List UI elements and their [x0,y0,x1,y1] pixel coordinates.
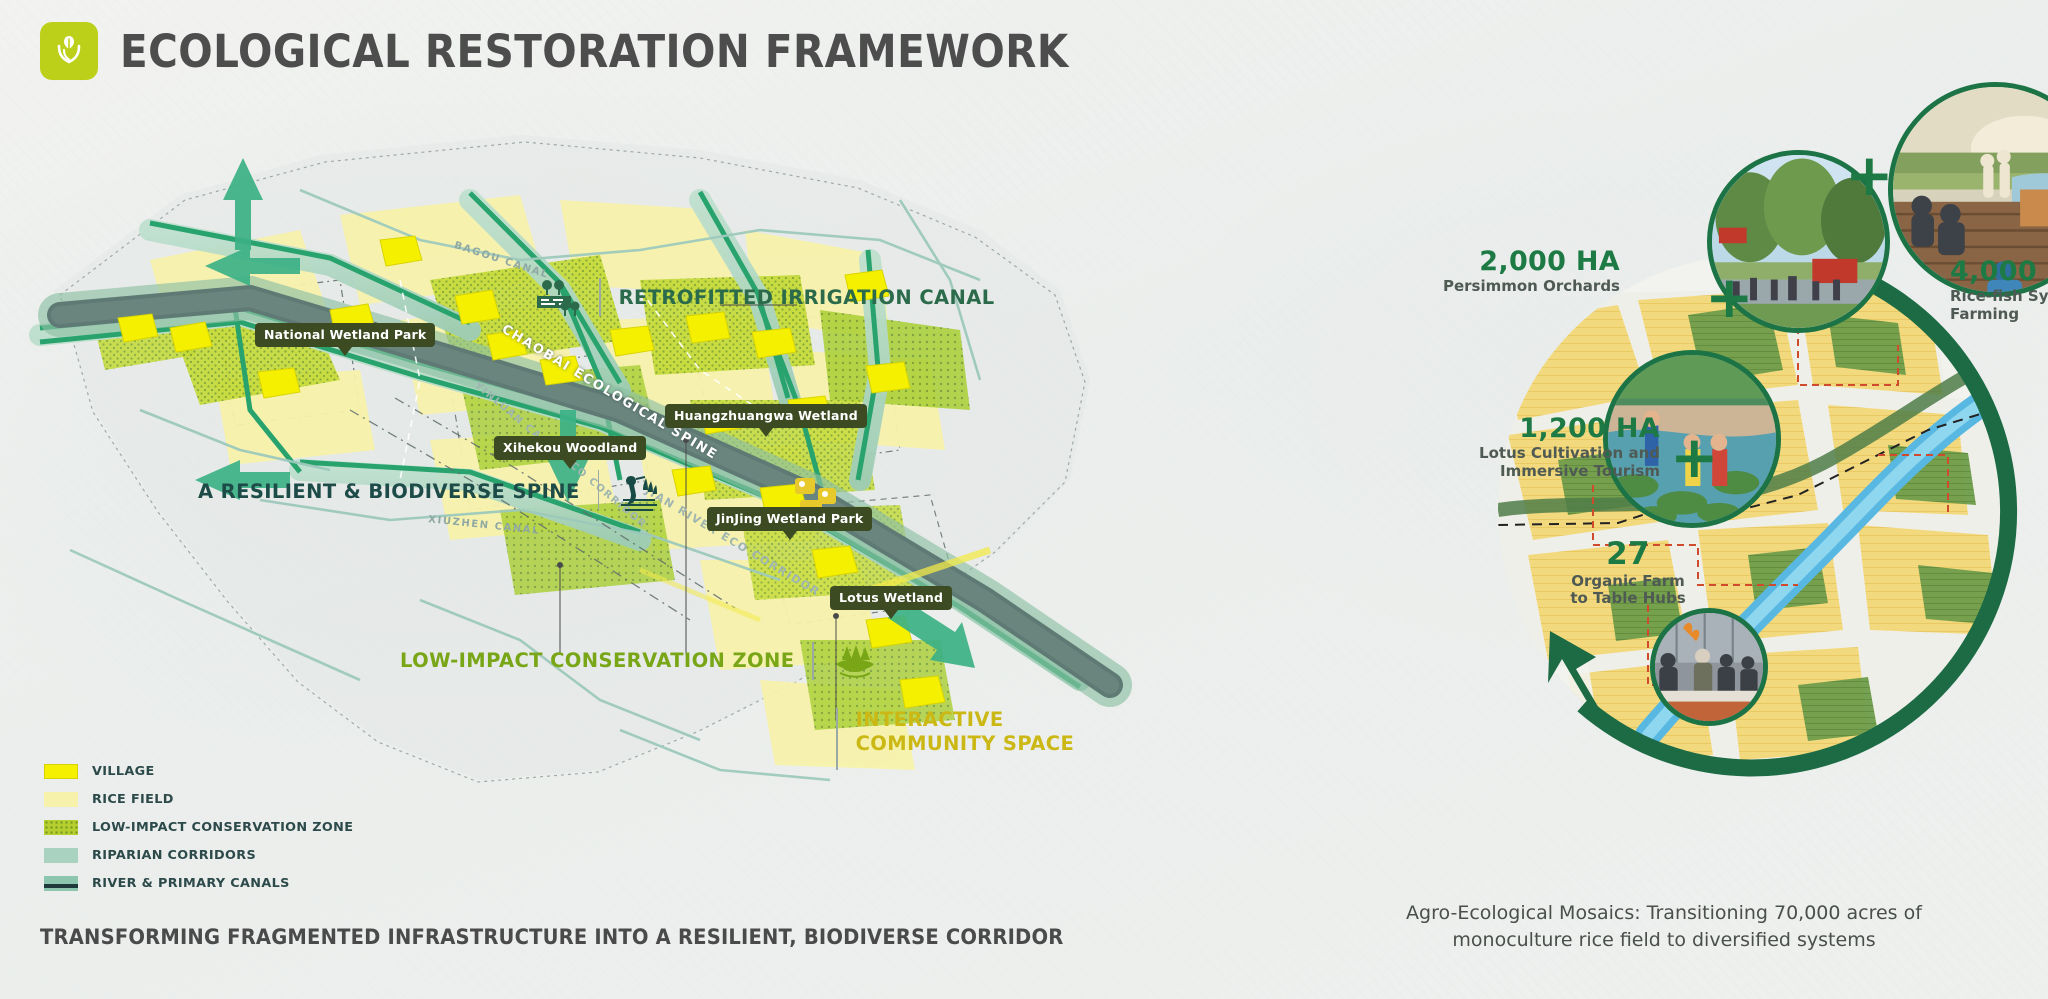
plus-icon-3: + [1670,428,1719,486]
stat-label: Rice-fish Symbiosis Farming [1950,288,2048,323]
annotation-label: A RESILIENT & BIODIVERSE SPINE [198,480,580,504]
map-label-jinjing-wetland-park[interactable]: JinJing Wetland Park [707,507,872,531]
agro-ecological-mosaic-panel: + + + 2,000 HA Persimmon Orchards 4,000 … [1280,40,2048,980]
annotation-label: INTERACTIVE COMMUNITY SPACE [856,708,1075,756]
panel-caption: Agro-Ecological Mosaics: Transitioning 7… [1280,900,2048,953]
map-label-lotus-wetland[interactable]: Lotus Wetland [830,586,952,610]
stat-label: Organic Farm to Table Hubs [1558,573,1698,608]
stat-value: 1,200 HA [1290,415,1660,443]
legend-label: RIVER & PRIMARY CANALS [92,876,290,891]
annotation-retrofitted-irrigation-canal: RETROFITTED IRRIGATION CANAL [535,278,995,318]
stat-rice-fish-symbiosis: 4,000 HA Rice-fish Symbiosis Farming [1950,258,2048,324]
legend-item-low-impact-conservation-zone[interactable]: LOW-IMPACT CONSERVATION ZONE [44,813,353,841]
annotation-interactive-community-space: INTERACTIVE COMMUNITY SPACE [836,708,1074,770]
annotation-divider [812,642,814,680]
map-legend: VILLAGE RICE FIELD LOW-IMPACT CONSERVATI… [44,757,353,897]
plus-icon-1: + [1705,268,1754,326]
leaf-in-hands-icon [52,30,86,73]
heron-reeds-icon [617,470,659,514]
legend-item-village[interactable]: VILLAGE [44,757,353,785]
brand-logo [40,22,98,80]
annotation-label: RETROFITTED IRRIGATION CANAL [619,286,995,310]
map-label-xihekou-woodland[interactable]: Xihekou Woodland [494,436,646,460]
stat-label: Persimmon Orchards [1320,278,1620,296]
stat-value: 27 [1558,538,1698,571]
stat-persimmon-orchards: 2,000 HA Persimmon Orchards [1320,248,1620,296]
forest-pond-icon [832,642,878,680]
legend-label: VILLAGE [92,764,155,779]
poster-tagline: TRANSFORMING FRAGMENTED INFRASTRUCTURE I… [40,925,1063,949]
stat-value: 2,000 HA [1320,248,1620,276]
page-title: ECOLOGICAL RESTORATION FRAMEWORK [120,25,1069,78]
legend-swatch [44,764,78,779]
annotation-divider [599,278,601,316]
legend-swatch [44,792,78,807]
legend-swatch [44,848,78,863]
stat-value: 4,000 HA [1950,258,2048,286]
legend-swatch [44,876,78,891]
map-label-national-wetland-park[interactable]: National Wetland Park [255,323,435,347]
legend-label: RICE FIELD [92,792,174,807]
plus-icon-2: + [1845,146,1894,204]
legend-item-river-primary-canals[interactable]: RIVER & PRIMARY CANALS [44,869,353,897]
annotation-resilient-biodiverse-spine: A RESILIENT & BIODIVERSE SPINE [198,470,659,514]
legend-label: LOW-IMPACT CONSERVATION ZONE [92,820,353,835]
annotation-low-impact-conservation-zone: LOW-IMPACT CONSERVATION ZONE [400,642,878,680]
annotation-divider [598,470,600,510]
annotation-label: LOW-IMPACT CONSERVATION ZONE [400,649,794,673]
map-label-huangzhuangwa-wetland[interactable]: Huangzhuangwa Wetland [665,404,867,428]
poster-header: ECOLOGICAL RESTORATION FRAMEWORK [40,22,1174,80]
stat-organic-farm-hubs: 27 Organic Farm to Table Hubs [1558,538,1698,608]
canal-terrace-icon [535,278,581,318]
market-counter-chef-photo [1655,613,1763,721]
photo-farm-to-table-hub[interactable] [1650,608,1768,726]
annotation-divider [836,708,838,770]
legend-item-rice-field[interactable]: RICE FIELD [44,785,353,813]
legend-swatch [44,820,78,835]
stat-label: Lotus Cultivation and Immersive Tourism [1290,445,1660,480]
legend-label: RIPARIAN CORRIDORS [92,848,256,863]
stat-lotus-cultivation: 1,200 HA Lotus Cultivation and Immersive… [1290,415,1660,481]
legend-item-riparian-corridors[interactable]: RIPARIAN CORRIDORS [44,841,353,869]
